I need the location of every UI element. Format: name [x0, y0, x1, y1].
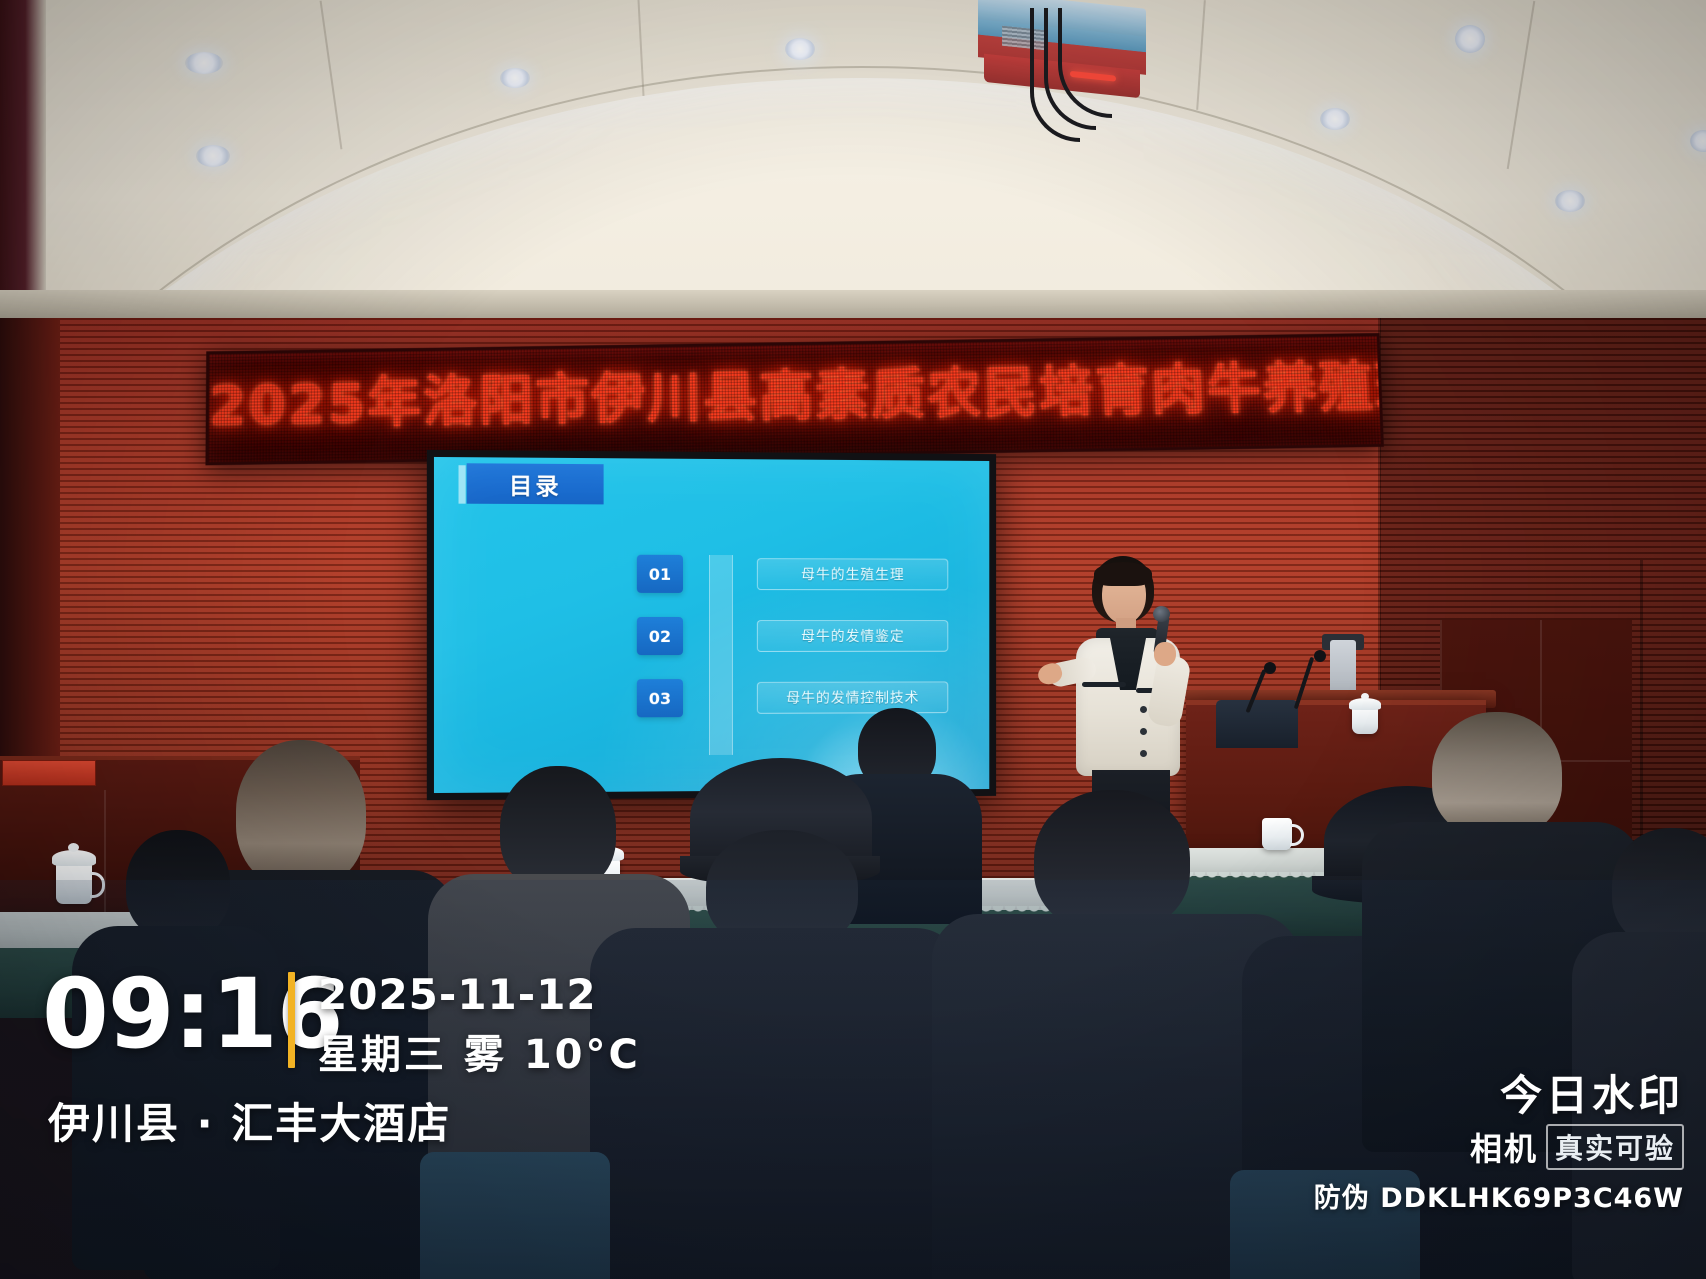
ceiling-seam-3	[1196, 0, 1206, 110]
audience-head	[126, 830, 230, 940]
presenter-blazer-button-2	[1140, 728, 1147, 735]
chair-back-bottom-left	[420, 1152, 610, 1279]
downlight-9	[1690, 130, 1706, 152]
ceiling	[0, 0, 1706, 330]
downlight-8	[1555, 190, 1585, 212]
downlight-2	[196, 145, 230, 167]
downlight-1	[185, 52, 223, 74]
watermark-anticounterfeit-code: 防伪 DDKLHK69P3C46W	[1314, 1176, 1684, 1215]
ceiling-seam-1	[320, 1, 343, 150]
presenter-right-hand	[1154, 642, 1176, 666]
slide-toc-item-1: 01 母牛的生殖生理	[637, 555, 948, 594]
watermark-verify-badge: 真实可验	[1546, 1124, 1684, 1170]
watermark-weather: 星期三 雾 10°C	[318, 1022, 641, 1080]
led-banner-text: 2025年洛阳市伊川县高素质农民培育肉牛养殖班	[209, 358, 1380, 436]
watermark-brand-name: 今日水印	[1314, 1072, 1684, 1120]
slide-toc-label-2: 母牛的发情鉴定	[757, 620, 948, 652]
lectern-chair	[1216, 700, 1298, 748]
watermark-brand: 今日水印 相机 真实可验 防伪 DDKLHK69P3C46W	[1314, 1072, 1684, 1215]
lectern-teacup-knob	[1361, 693, 1369, 700]
slide-title-text: 目录	[509, 467, 562, 502]
audience-head	[1034, 790, 1190, 932]
slide-toc-number-1: 01	[637, 555, 683, 593]
lectern-teacup	[1352, 706, 1378, 734]
downlight-3	[500, 68, 530, 88]
slide-toc-number-3: 03	[637, 679, 683, 717]
audience-head	[1612, 828, 1706, 948]
audience-torso	[590, 928, 962, 1279]
microphone-head-1	[1314, 650, 1326, 662]
microphone-head-2	[1264, 662, 1276, 674]
watermark-date: 2025-11-12	[318, 970, 597, 1019]
slide-toc-number-2: 02	[637, 617, 683, 655]
slide-title-tick	[459, 465, 466, 503]
downlight-6	[1455, 25, 1485, 53]
left-podium-red-sign	[2, 760, 96, 786]
watermark-location: 伊川县 · 汇丰大酒店	[48, 1090, 451, 1151]
presenter-blazer-button-1	[1140, 706, 1147, 713]
watermark-time: 09:16	[42, 966, 343, 1062]
presenter-microphone-head	[1153, 606, 1170, 622]
watermark-brand-subtitle: 相机	[1470, 1124, 1538, 1170]
audience-member-right-center-front	[956, 790, 1276, 1279]
photo-scene: 2025年洛阳市伊川县高素质农民培育肉牛养殖班 目录 01 母牛的生殖生理 02…	[0, 0, 1706, 1279]
watermark-brand-row: 相机 真实可验	[1314, 1124, 1684, 1170]
presenter-blazer-trim-1	[1082, 682, 1126, 687]
teacup-left-1-knob	[68, 843, 79, 852]
ceiling-seam-2	[637, 0, 644, 96]
slide-title-tab: 目录	[467, 463, 604, 504]
downlight-7	[1320, 108, 1350, 130]
audience-member-center-front-cap	[618, 758, 938, 1279]
led-banner: 2025年洛阳市伊川县高素质农民培育肉牛养殖班	[205, 333, 1383, 465]
ceiling-seam-4	[1507, 1, 1536, 169]
slide-toc-item-2: 02 母牛的发情鉴定	[637, 617, 948, 655]
presenter-blazer-button-3	[1140, 750, 1147, 757]
slide-toc-label-1: 母牛的生殖生理	[757, 558, 948, 590]
watermark-divider	[288, 972, 295, 1068]
ceiling-left-edge	[0, 0, 46, 330]
presenter-hair-fringe	[1094, 562, 1152, 586]
audience-head	[1432, 712, 1562, 838]
downlight-4	[785, 38, 815, 60]
